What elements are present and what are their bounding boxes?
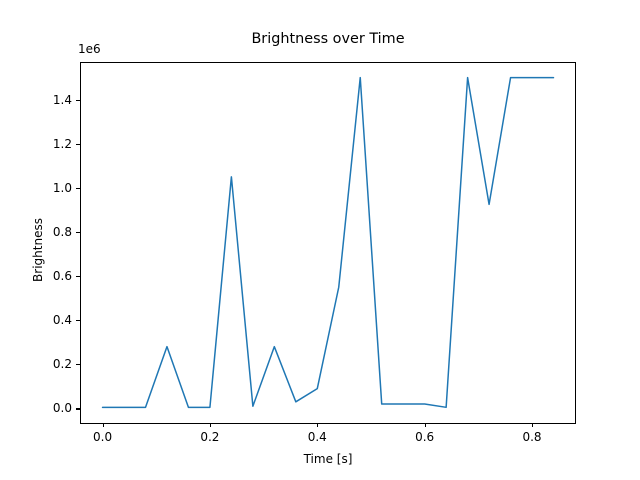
y-tick-mark (76, 364, 80, 365)
y-tick-mark (76, 100, 80, 101)
y-tick-mark (76, 276, 80, 277)
x-tick-label: 0.4 (308, 430, 327, 444)
x-tick-label: 0.8 (522, 430, 541, 444)
matplotlib-figure: Brightness over Time 1e6 0.00.20.40.60.8… (0, 0, 640, 480)
x-axis-label: Time [s] (80, 452, 576, 466)
y-tick-mark (76, 320, 80, 321)
x-tick-label: 0.2 (200, 430, 219, 444)
y-tick-mark (76, 408, 80, 409)
y-axis-label: Brightness (31, 150, 45, 350)
x-tick-label: 0.6 (415, 430, 434, 444)
x-tick-label: 0.0 (93, 430, 112, 444)
y-tick-mark (76, 188, 80, 189)
plot-axes-frame (80, 62, 576, 424)
y-tick-mark (76, 232, 80, 233)
y-tick-mark (76, 144, 80, 145)
